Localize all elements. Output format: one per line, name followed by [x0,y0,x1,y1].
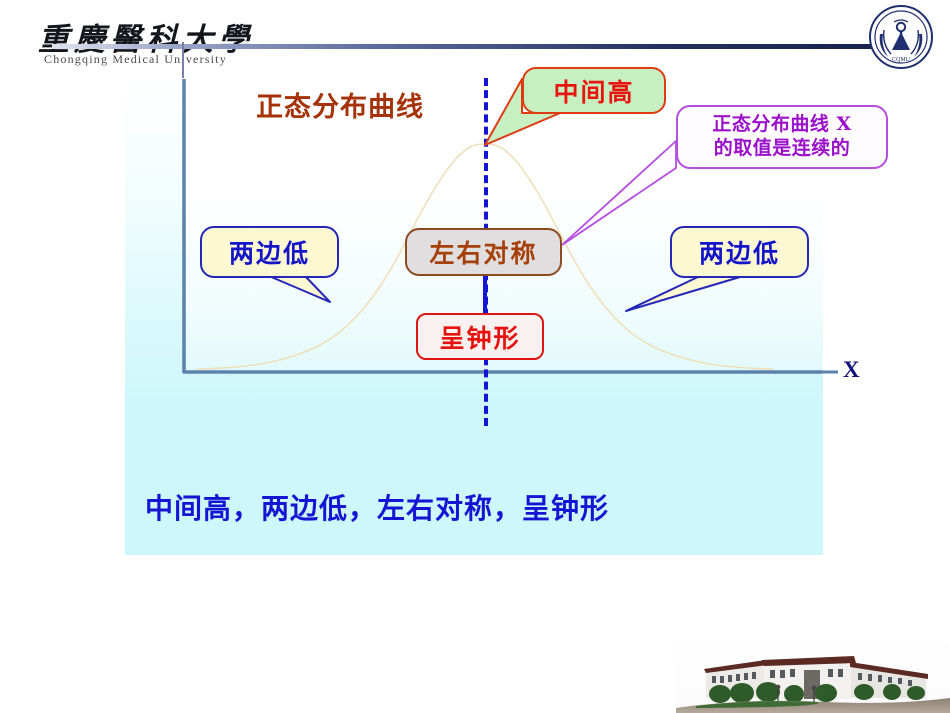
callout-symmetry: 左右对称 [405,228,562,276]
callout-symmetry-label: 左右对称 [429,234,537,270]
campus-building-photo [676,636,950,713]
campus-building-illustration [676,636,950,713]
callout-low-left: 两边低 [200,226,339,278]
callout-bell: 呈钟形 [416,313,544,360]
emblem-label: CQMU [892,57,911,63]
callout-peak-label: 中间高 [553,73,634,109]
callout-low-left-label: 两边低 [229,234,310,270]
callout-continuous-line2: 的取值是连续的 [714,137,851,161]
university-name-english: Chongqing Medical University [44,52,227,67]
callout-low-right-label: 两边低 [699,234,780,270]
callout-continuous: 正态分布曲线 X 的取值是连续的 [676,105,888,169]
x-axis-label: X [843,357,860,383]
university-emblem-icon: CQMU [868,4,934,70]
callout-peak: 中间高 [522,67,666,114]
page-header: 重慶醫科大學 Chongqing Medical University CQMU [0,0,950,70]
callout-low-right: 两边低 [670,226,809,278]
summary-text: 中间高，两边低，左右对称，呈钟形 [145,487,609,527]
chart-title: 正态分布曲线 [256,85,424,124]
callout-continuous-line1: 正态分布曲线 X [712,113,851,137]
callout-bell-label: 呈钟形 [439,319,520,355]
